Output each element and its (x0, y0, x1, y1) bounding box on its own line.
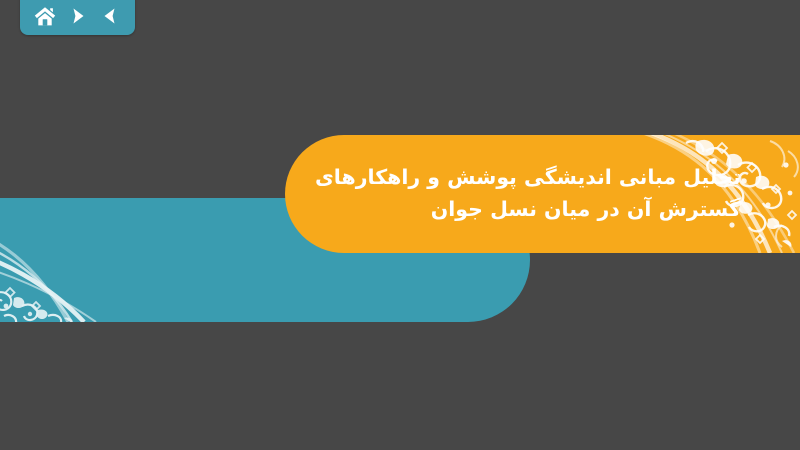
home-button[interactable] (32, 3, 58, 29)
triangle-left-icon (100, 6, 120, 26)
slide-title: تحلیل مبانی اندیشگی پوشش و راهکارهای گست… (285, 162, 769, 226)
navigation-bar (20, 0, 135, 35)
home-icon (34, 6, 56, 27)
slide-canvas: تحلیل مبانی اندیشگی پوشش و راهکارهای گست… (0, 0, 800, 450)
triangle-right-icon (68, 6, 88, 26)
title-line-1: تحلیل مبانی اندیشگی پوشش و راهکارهای (315, 162, 741, 194)
title-line-2: گسترش آن در میان نسل جوان (315, 194, 741, 226)
orange-title-band: تحلیل مبانی اندیشگی پوشش و راهکارهای گست… (285, 135, 800, 253)
arabesque-ornament-teal (0, 198, 110, 322)
next-button[interactable] (65, 3, 91, 29)
previous-button[interactable] (97, 3, 123, 29)
